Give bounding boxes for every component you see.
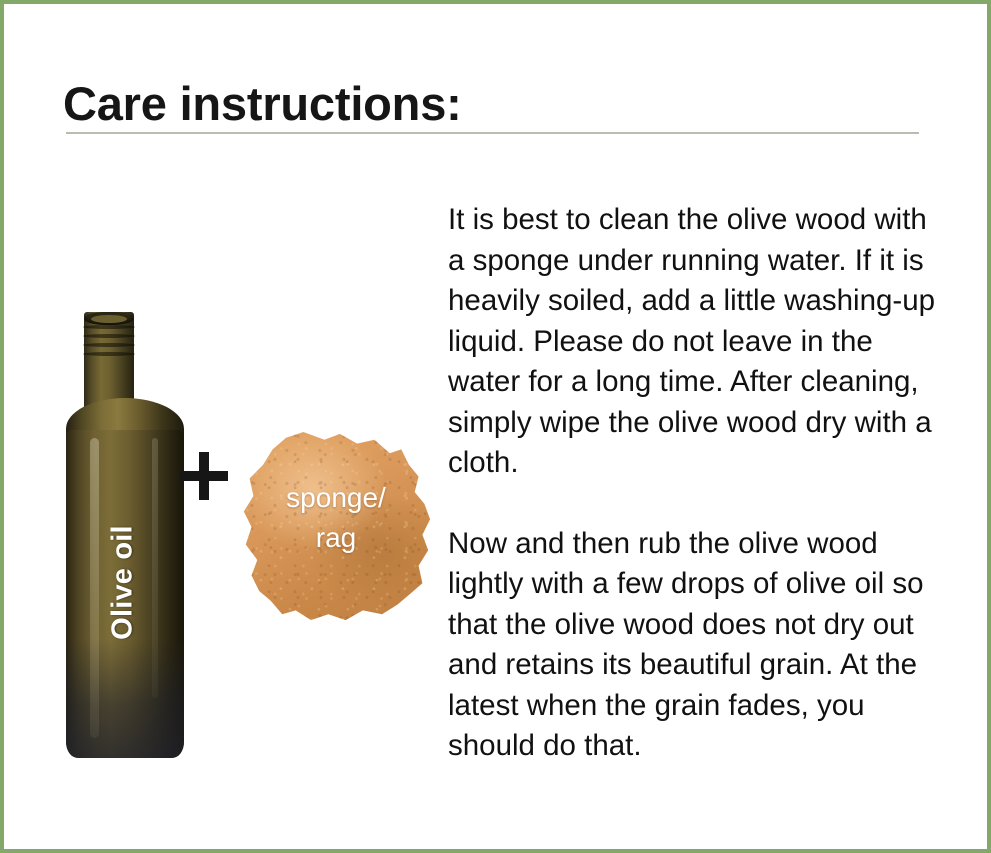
instructions-paragraph: It is best to clean the olive wood with …: [448, 200, 948, 484]
sponge-label-line-2: rag: [240, 518, 432, 558]
bottle-thread: [83, 325, 135, 329]
bottle-highlight: [90, 438, 99, 738]
plus-icon: [180, 452, 228, 500]
care-instructions-page: Care instructions: Olive oil sponge/ rag…: [0, 0, 991, 853]
bottle-label-text: Olive oil: [107, 473, 140, 693]
sponge-rag-image: sponge/ rag: [240, 430, 432, 624]
page-title: Care instructions:: [63, 78, 462, 130]
olive-oil-bottle-image: Olive oil: [60, 312, 190, 762]
sponge-label-line-1: sponge/: [286, 482, 386, 513]
bottle-thread: [83, 334, 135, 338]
bottle-thread: [83, 343, 135, 347]
sponge-label: sponge/ rag: [240, 478, 432, 558]
bottle-thread: [83, 352, 135, 356]
title-divider: [66, 132, 919, 134]
bottle-highlight-secondary: [152, 438, 158, 698]
instructions-text-column: It is best to clean the olive wood with …: [448, 200, 948, 767]
instructions-paragraph: Now and then rub the olive wood lightly …: [448, 524, 948, 767]
plus-icon-vertical-bar: [199, 452, 209, 500]
bottle-mouth-opening: [91, 315, 127, 323]
